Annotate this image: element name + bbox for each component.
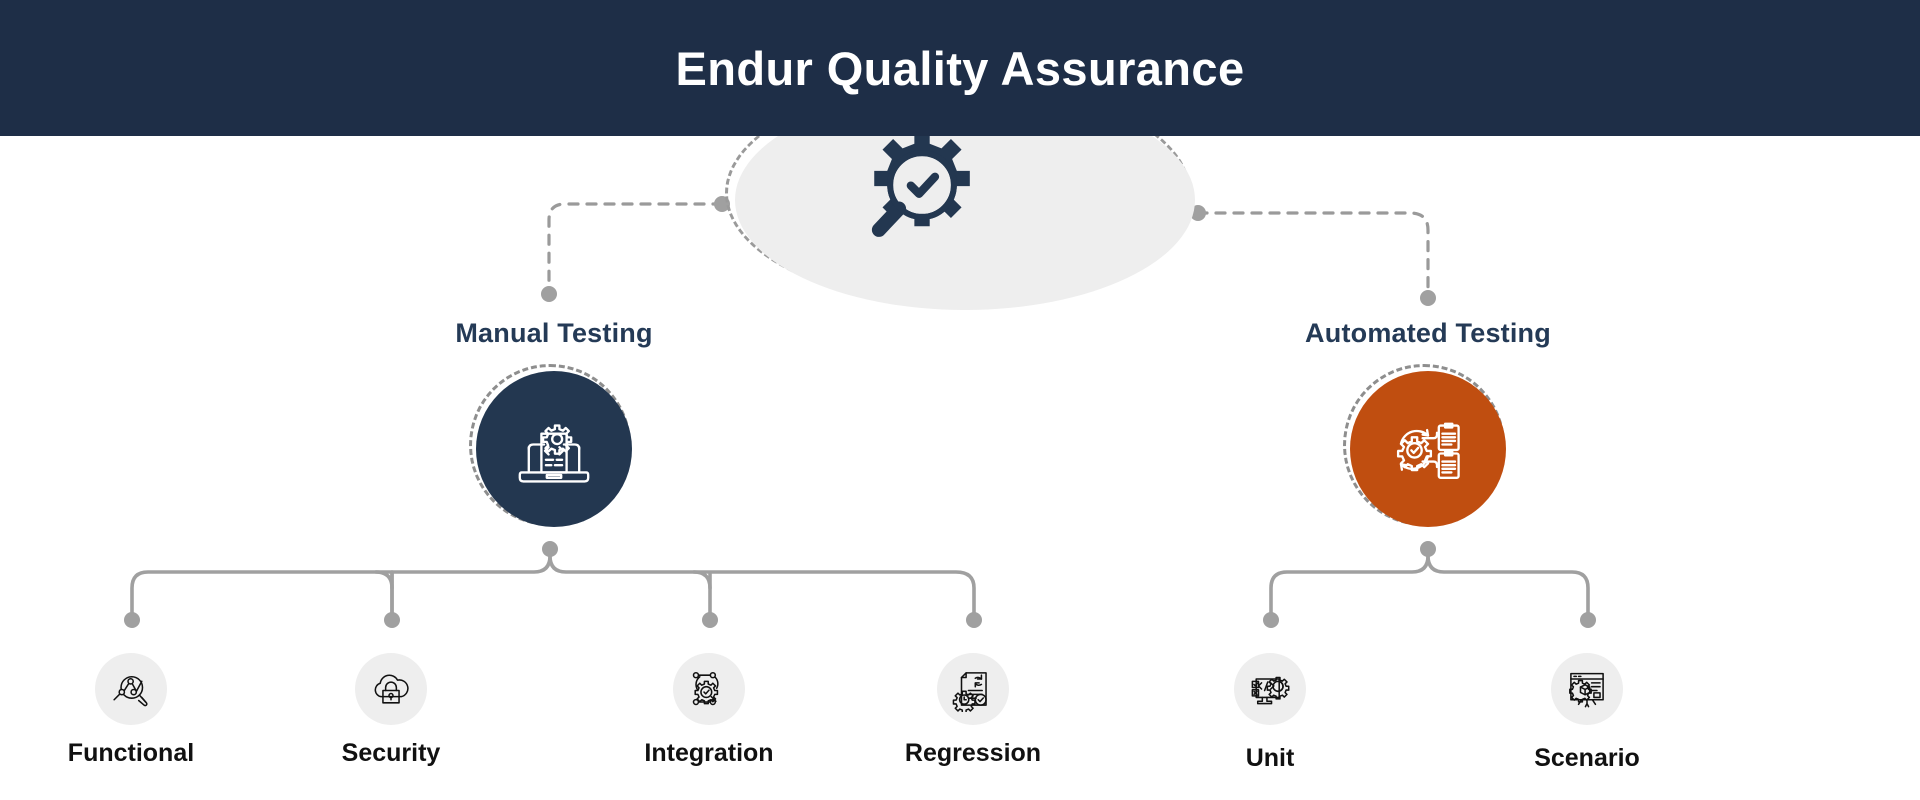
quality-assurance-icon [853, 126, 971, 244]
leaf-label-security: Security [291, 739, 491, 768]
branch-circle-manual-testing [476, 371, 632, 527]
leaf-label-integration: Integration [609, 739, 809, 768]
branch-circle-automated-testing [1350, 371, 1506, 527]
gear-clipboards-icon [1383, 404, 1473, 494]
branch-label-automated-testing: Automated Testing [1268, 318, 1588, 349]
leaf-circle [937, 653, 1009, 725]
leaf-scenario[interactable]: Scenario [1487, 653, 1687, 773]
leaf-circle [673, 653, 745, 725]
leaf-functional[interactable]: Functional [31, 653, 231, 768]
leaf-label-functional: Functional [31, 739, 231, 768]
leaf-label-scenario: Scenario [1487, 744, 1687, 773]
graph-magnifier-icon [108, 666, 154, 712]
leaf-circle [1551, 653, 1623, 725]
leaf-label-regression: Regression [873, 739, 1073, 768]
leaf-regression[interactable]: Regression [873, 653, 1073, 768]
page-title: Endur Quality Assurance [675, 41, 1244, 96]
branch-label-manual-testing: Manual Testing [394, 318, 714, 349]
qa-diagram: Endur Quality Assurance Manual Testing [0, 0, 1920, 800]
branch-manual-testing[interactable]: Manual Testing [394, 318, 714, 527]
branch-automated-testing[interactable]: Automated Testing [1268, 318, 1588, 527]
monitor-code-gear-icon [1247, 666, 1293, 712]
laptop-gear-code-icon [509, 404, 599, 494]
leaf-circle [1234, 653, 1306, 725]
leaf-circle [355, 653, 427, 725]
leaf-label-unit: Unit [1170, 744, 1370, 773]
network-gear-check-icon [686, 666, 732, 712]
leaf-unit[interactable]: Unit [1170, 653, 1370, 773]
cloud-lock-icon [368, 666, 414, 712]
leaf-circle [95, 653, 167, 725]
page-header: Endur Quality Assurance [0, 0, 1920, 136]
presentation-gear-cube-icon [1564, 666, 1610, 712]
document-refresh-gear-check-icon [950, 666, 996, 712]
leaf-security[interactable]: Security [291, 653, 491, 768]
leaf-integration[interactable]: Integration [609, 653, 809, 768]
